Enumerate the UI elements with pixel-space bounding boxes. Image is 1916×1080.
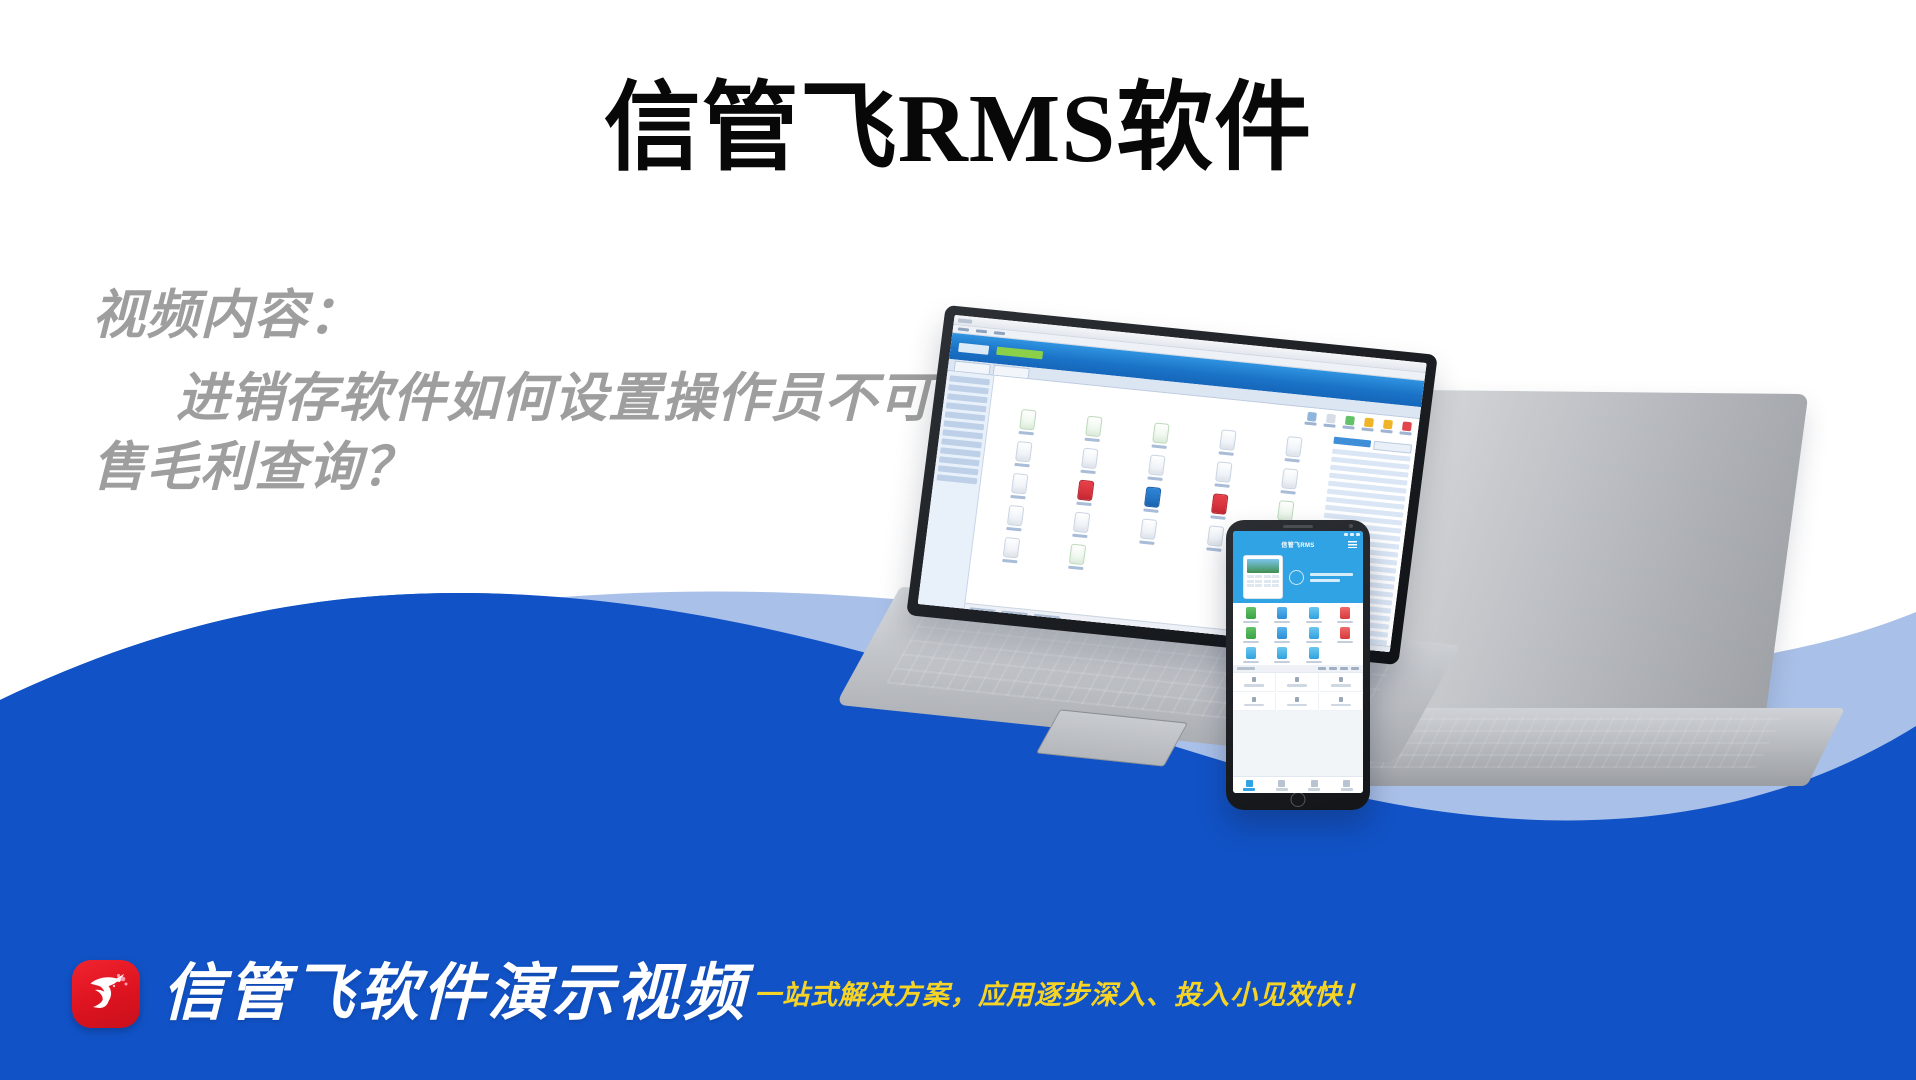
sidebar-item[interactable] (943, 420, 984, 430)
status-text (1034, 613, 1060, 619)
mobile-grid-item[interactable] (1331, 607, 1361, 623)
brand-tagline: 一站式解决方案，应用逐步深入、投入小见效快！ (754, 973, 1370, 1012)
chart-icon (1311, 780, 1318, 787)
app-grid-item[interactable] (995, 407, 1059, 438)
toolbar-icon (1306, 412, 1316, 422)
doc-icon (1277, 647, 1287, 659)
toolbar-icon (1382, 419, 1392, 429)
app-title-text (958, 318, 973, 323)
stat-value (1339, 697, 1343, 702)
filter-year[interactable] (1351, 667, 1359, 670)
sidebar-item[interactable] (948, 384, 989, 394)
hero-grid-cell (1264, 584, 1271, 587)
filter-week[interactable] (1329, 667, 1337, 670)
grid-item-label (1151, 444, 1166, 449)
mobile-grid-label (1306, 621, 1322, 624)
grid-item-icon (1148, 454, 1166, 476)
grid-item-label (1010, 495, 1025, 500)
hero-caption (1310, 573, 1353, 582)
grid-item-label (1006, 527, 1021, 532)
toolbar-button[interactable] (1323, 413, 1337, 429)
doc-icon (1277, 607, 1287, 619)
sidebar-item[interactable] (947, 393, 988, 403)
app-grid-item[interactable] (1129, 420, 1193, 451)
grid-item-icon (1019, 409, 1037, 431)
sidebar-item[interactable] (942, 429, 983, 439)
sidebar-item[interactable] (938, 465, 979, 475)
app-grid-item[interactable] (1187, 491, 1251, 522)
toolbar-button[interactable] (1304, 412, 1318, 428)
app-grid-item[interactable] (1262, 434, 1326, 465)
stat-cell[interactable] (1233, 693, 1276, 712)
grid-item-label (1281, 490, 1296, 495)
grid-item-icon (1219, 429, 1237, 451)
sidebar-item[interactable] (940, 447, 981, 457)
stat-label (1244, 704, 1264, 707)
doc-icon (1246, 647, 1256, 659)
toolbar-button[interactable] (1361, 417, 1375, 433)
mobile-app-title: 信管飞RMS (1281, 540, 1314, 549)
mobile-section-header (1233, 665, 1363, 672)
grid-item-icon (1015, 441, 1033, 463)
hero-grid (1247, 575, 1279, 587)
doc-icon (1340, 627, 1350, 639)
mobile-grid-label (1274, 641, 1290, 644)
stat-value (1295, 697, 1299, 702)
mobile-grid-label (1337, 641, 1353, 644)
mobile-app-header: 信管飞RMS (1233, 537, 1363, 551)
mobile-bottom-nav (1233, 776, 1363, 793)
toolbar-icon (1325, 414, 1335, 424)
app-grid-item[interactable] (1050, 509, 1114, 540)
grid-item-icon (1140, 518, 1158, 540)
sidebar-item[interactable] (939, 456, 980, 466)
nav-item-documents[interactable] (1266, 777, 1299, 793)
right-panel-tab-active[interactable] (1333, 437, 1370, 448)
stat-cell[interactable] (1277, 693, 1320, 712)
grid-item-icon (1152, 422, 1170, 444)
nav-item-reports[interactable] (1298, 777, 1331, 793)
nav-item-home[interactable] (1233, 777, 1266, 793)
menu-item-3[interactable] (994, 331, 1005, 335)
grid-item-label (1147, 476, 1162, 481)
grid-item-label (1085, 438, 1100, 443)
question-line-1: 进销存软件如何设置操作员不可进 (176, 369, 986, 428)
status-text (1002, 610, 1028, 616)
filter-month[interactable] (1340, 667, 1348, 670)
hero-grid-cell (1272, 584, 1279, 587)
grid-item-label (1139, 540, 1154, 545)
toolbar-icon (1344, 416, 1354, 426)
app-grid-item[interactable] (1195, 427, 1259, 458)
grid-icon (1278, 780, 1285, 787)
mobile-grid-item[interactable] (1268, 607, 1298, 623)
app-grid-item[interactable] (983, 503, 1047, 534)
doc-icon (1277, 627, 1287, 639)
hero-grid-cell (1255, 575, 1262, 578)
logo-bird-g-icon (72, 960, 140, 1028)
presentation-slide: 信管飞RMS软件 视频内容： 进销存软件如何设置操作员不可进行销售毛利查询？ (0, 0, 1916, 1080)
mobile-stats-grid (1233, 672, 1363, 711)
grid-item-label (1077, 502, 1092, 507)
grid-item-icon (1069, 544, 1087, 566)
brand-title: 信管飞软件演示视频 (162, 963, 747, 1025)
toolbar-button[interactable] (1399, 421, 1413, 437)
mobile-icon-grid (1233, 603, 1363, 665)
toolbar-label (1342, 425, 1354, 429)
hero-grid-cell (1247, 584, 1254, 587)
app-grid-item[interactable] (1116, 516, 1180, 547)
slide-footer: 信管飞软件演示视频 一站式解决方案，应用逐步深入、投入小见效快！ (0, 890, 1916, 1080)
doc-icon (1340, 607, 1350, 619)
section-title (1237, 667, 1255, 670)
app-grid-item[interactable] (979, 535, 1043, 566)
toolbar-button[interactable] (1342, 415, 1356, 431)
toolbar-button[interactable] (1380, 419, 1394, 435)
sidebar-item[interactable] (941, 438, 982, 448)
grid-item-label (1214, 483, 1229, 488)
mobile-grid-item[interactable] (1299, 647, 1329, 663)
right-panel-tab[interactable] (1373, 441, 1413, 454)
app-grid-item[interactable] (1058, 445, 1122, 476)
nav-label (1243, 788, 1255, 791)
home-icon (1246, 780, 1253, 787)
mobile-grid-label (1243, 641, 1259, 644)
grid-item-icon (1206, 525, 1224, 547)
grid-item-label (1210, 515, 1225, 520)
slide-title: 信管飞RMS软件 (0, 78, 1916, 181)
mobile-grid-item[interactable] (1331, 627, 1361, 643)
stat-label (1287, 704, 1307, 707)
mobile-grid-label (1274, 621, 1290, 624)
mobile-grid-item[interactable] (1236, 647, 1266, 663)
grid-item-label (1081, 470, 1096, 475)
mobile-grid-item[interactable] (1236, 627, 1266, 643)
logo-glyph-svg (72, 960, 140, 1028)
stat-value (1252, 697, 1256, 702)
grid-item-icon (1073, 512, 1091, 534)
signal-icon (1344, 533, 1348, 536)
grid-item-icon (1011, 473, 1029, 495)
grid-item-icon (1211, 493, 1229, 515)
mobile-grid-label (1243, 621, 1259, 624)
toolbar-label (1399, 431, 1411, 435)
toolbar-icon (1401, 421, 1411, 431)
stat-cell[interactable] (1277, 673, 1320, 692)
hero-phone-illustration (1243, 555, 1283, 599)
grid-item-label (1073, 534, 1088, 539)
grid-item-icon (1215, 461, 1233, 483)
battery-icon (1356, 533, 1360, 536)
grid-item-icon (1281, 468, 1299, 490)
wifi-icon (1350, 533, 1354, 536)
app-grid-item[interactable] (1191, 459, 1255, 490)
sidebar-item[interactable] (945, 411, 986, 421)
nav-item-profile[interactable] (1331, 777, 1364, 793)
app-grid-item[interactable] (1125, 452, 1189, 483)
laptop-mockup (880, 330, 1520, 800)
sidebar-item[interactable] (946, 402, 987, 412)
mobile-hero-banner (1233, 551, 1363, 603)
app-grid-item[interactable] (1062, 413, 1126, 444)
nav-label (1308, 788, 1320, 791)
phone-screen: 信管飞RMS (1233, 531, 1363, 793)
menu-item-1[interactable] (958, 327, 969, 331)
phone-speaker (1283, 525, 1313, 528)
grid-item-icon (1285, 436, 1303, 458)
nav-label (1341, 788, 1353, 791)
toolbar-label (1304, 422, 1316, 426)
grid-item-label (1018, 431, 1033, 436)
mobile-grid-label (1306, 641, 1322, 644)
grid-item-icon (1144, 486, 1162, 508)
mobile-grid-label (1243, 661, 1259, 664)
hero-grid-cell (1247, 575, 1254, 578)
device-cluster: 信管飞RMS (880, 370, 1916, 970)
hamburger-menu-icon[interactable] (1348, 541, 1357, 548)
section-filters (1318, 667, 1359, 670)
stat-label (1331, 704, 1351, 707)
app-banner-highlight (996, 347, 1043, 360)
app-grid-item[interactable] (1054, 477, 1118, 508)
filter-today[interactable] (1318, 667, 1326, 670)
stat-label (1287, 684, 1307, 687)
hero-caption-line (1310, 573, 1353, 576)
hero-caption-line (1310, 579, 1340, 582)
hero-grid-cell (1272, 580, 1279, 583)
hero-grid-cell (1264, 575, 1271, 578)
spacer-icon (1340, 647, 1350, 659)
app-grid-item[interactable] (991, 439, 1055, 470)
grid-item-icon (1277, 500, 1295, 522)
mobile-grid-spacer (1331, 647, 1361, 663)
hero-grid-cell (1255, 584, 1262, 587)
brand-lockup: 信管飞软件演示视频 (72, 960, 747, 1028)
mobile-grid-label (1274, 661, 1290, 664)
hero-grid-cell (1272, 575, 1279, 578)
stat-label (1331, 684, 1351, 687)
sidebar-item[interactable] (949, 375, 990, 385)
person-icon (1343, 780, 1350, 787)
app-grid-item[interactable] (1046, 541, 1110, 572)
grid-item-label (1285, 458, 1300, 463)
mobile-grid-item[interactable] (1299, 607, 1329, 623)
doc-icon (1309, 607, 1319, 619)
mobile-grid-label (1306, 661, 1322, 664)
phone-mockup: 信管飞RMS (1226, 520, 1370, 810)
doc-icon (1309, 627, 1319, 639)
app-logo (958, 342, 989, 354)
phone-camera-icon (1349, 524, 1353, 528)
menu-item-2[interactable] (976, 329, 987, 333)
grid-item-label (1002, 559, 1017, 564)
stat-value (1295, 677, 1299, 682)
stat-cell[interactable] (1320, 693, 1363, 712)
mobile-grid-item[interactable] (1236, 607, 1266, 623)
hero-grid-cell (1247, 580, 1254, 583)
nav-label (1276, 788, 1288, 791)
toolbar-icon (1363, 418, 1373, 428)
grid-item-label (1218, 451, 1233, 456)
hero-grid-cell (1255, 580, 1262, 583)
grid-item-icon (1003, 537, 1021, 559)
grid-item-icon (1077, 480, 1095, 502)
app-grid-item[interactable] (1258, 466, 1322, 497)
stat-cell[interactable] (1233, 673, 1276, 692)
app-grid-item[interactable] (987, 471, 1051, 502)
stat-value (1252, 677, 1256, 682)
toolbar-label (1323, 423, 1335, 427)
grid-item-label (1143, 508, 1158, 513)
grid-more-icon (1309, 647, 1319, 659)
grid-item-label (1014, 463, 1029, 468)
doc-icon (1246, 607, 1256, 619)
mobile-grid-label (1337, 621, 1353, 624)
grid-item-icon (1007, 505, 1025, 527)
toolbar-label (1361, 427, 1373, 431)
grid-item-icon (1081, 448, 1099, 470)
toolbar-label (1380, 429, 1392, 433)
status-text (970, 607, 996, 613)
doc-icon (1246, 627, 1256, 639)
hero-image (1247, 559, 1279, 573)
mobile-grid-item[interactable] (1268, 647, 1298, 663)
grid-item-label (1206, 547, 1221, 552)
hero-ring-icon (1289, 570, 1304, 585)
stat-cell[interactable] (1320, 673, 1363, 692)
app-grid-item[interactable] (1120, 484, 1184, 515)
sidebar-item[interactable] (937, 474, 978, 484)
mobile-grid-item[interactable] (1268, 627, 1298, 643)
stat-value (1339, 677, 1343, 682)
hero-grid-cell (1264, 580, 1271, 583)
grid-item-icon (1086, 416, 1104, 438)
phone-home-button[interactable] (1291, 792, 1306, 807)
mobile-grid-item[interactable] (1299, 627, 1329, 643)
stat-label (1244, 684, 1264, 687)
grid-item-label (1068, 566, 1083, 571)
